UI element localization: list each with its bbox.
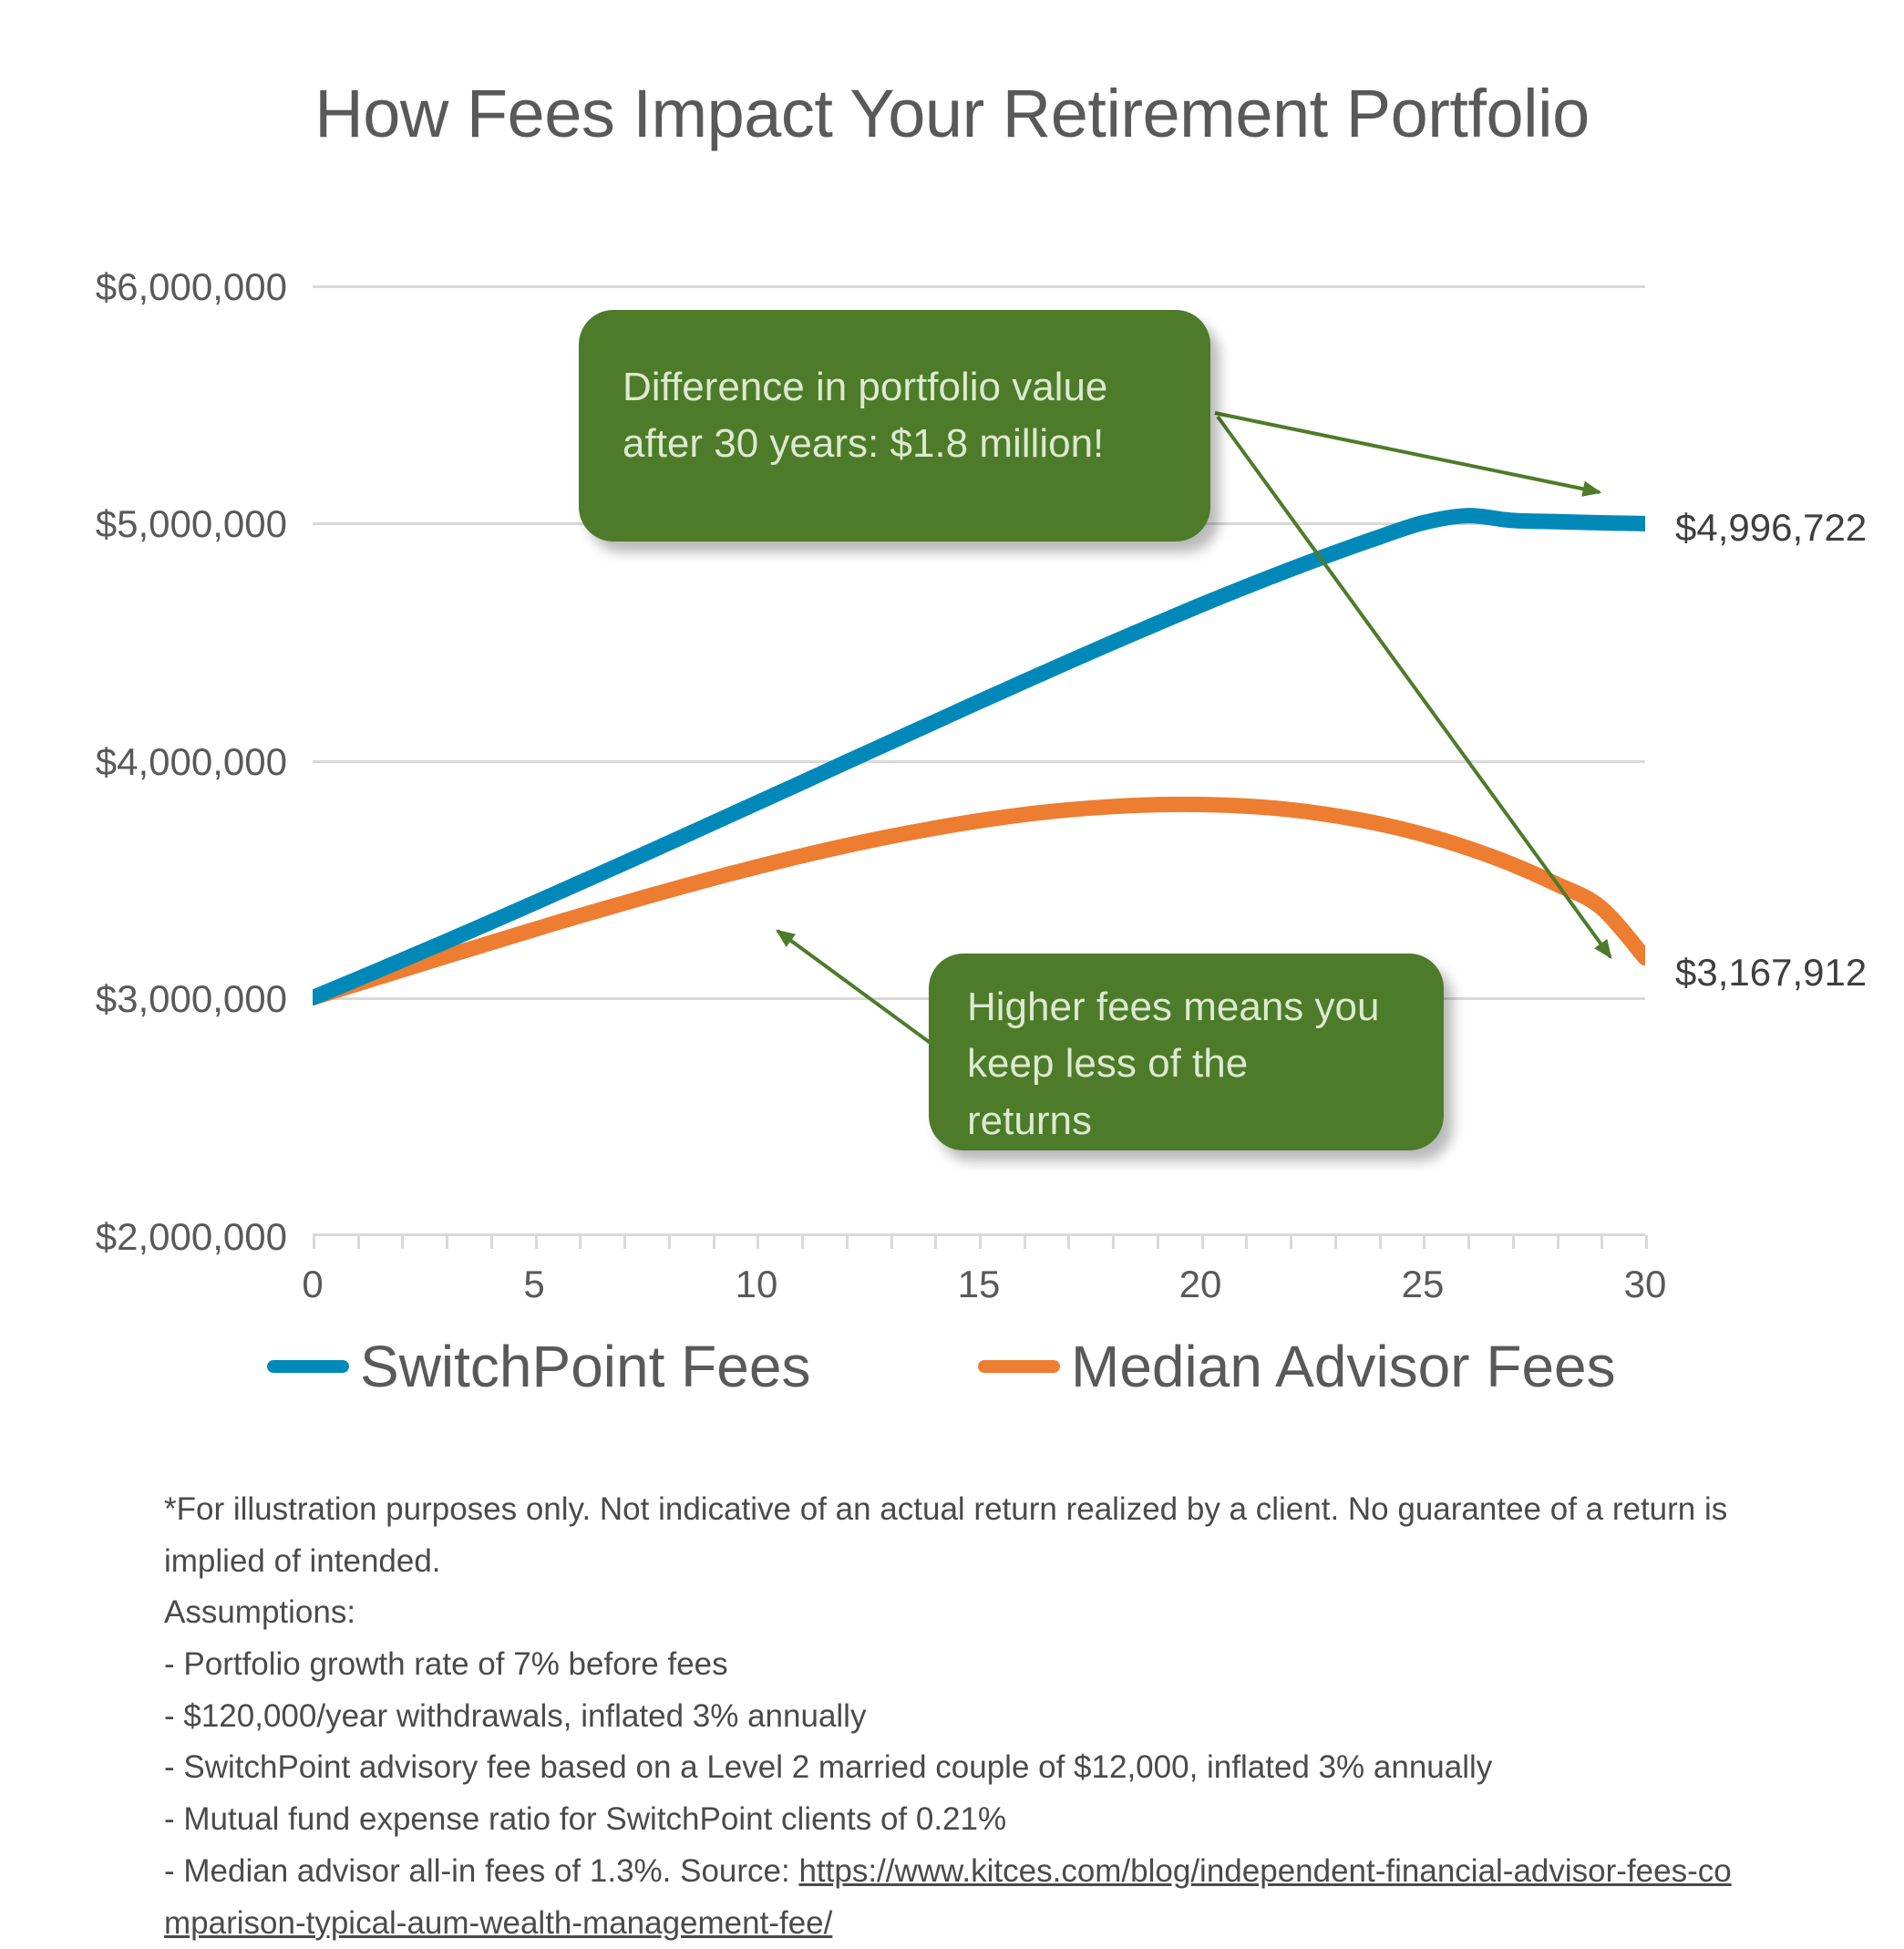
x-axis-tick [713,1235,715,1249]
x-axis-tick [535,1235,538,1249]
x-axis-tick [756,1235,759,1249]
x-axis-label-20: 20 [1146,1263,1255,1306]
x-axis-tick [979,1235,982,1249]
x-axis-tick [1467,1235,1470,1249]
x-axis-tick [623,1235,626,1249]
x-axis-label-15: 15 [924,1263,1034,1306]
footnote-disclaimer: *For illustration purposes only. Not ind… [164,1484,1750,1587]
y-axis-label-5m: $5,000,000 [68,502,287,546]
endpoint-label-median: $3,167,912 [1675,951,1867,995]
x-axis-tick [846,1235,849,1249]
x-axis-label-0: 0 [258,1263,367,1306]
x-axis-tick [934,1235,937,1249]
y-axis-label-3m: $3,000,000 [68,977,287,1021]
endpoint-label-switchpoint: $4,996,722 [1675,506,1867,550]
footnote-assumption-4: - Mutual fund expense ratio for SwitchPo… [164,1794,1750,1846]
y-axis-label-4m: $4,000,000 [68,740,287,784]
x-axis-tick [890,1235,893,1249]
x-axis-ticks [313,1235,1645,1250]
callout-difference-line1: Difference in portfolio value [623,359,1210,416]
footnote-assumption-1: - Portfolio growth rate of 7% before fee… [164,1639,1750,1691]
x-axis-tick [401,1235,404,1249]
x-axis-tick [1245,1235,1248,1249]
chart-page: How Fees Impact Your Retirement Portfoli… [0,0,1904,1914]
x-axis-tick [357,1235,360,1249]
x-axis-tick [1512,1235,1515,1249]
x-axis-tick [801,1235,804,1249]
x-axis-tick [579,1235,581,1249]
footnote-assumptions-heading: Assumptions: [164,1587,1750,1639]
x-axis-tick [313,1235,315,1249]
footnotes: *For illustration purposes only. Not ind… [164,1484,1750,1949]
footnote-assumption-2: - $120,000/year withdrawals, inflated 3%… [164,1691,1750,1743]
x-axis-label-30: 30 [1590,1263,1700,1306]
x-axis-tick [1067,1235,1070,1249]
callout-difference-line2: after 30 years: $1.8 million! [623,416,1210,472]
callout-higher-fees: Higher fees means you keep less of the r… [929,954,1444,1150]
x-axis-label-25: 25 [1368,1263,1477,1306]
x-axis-tick [446,1235,448,1249]
x-axis-tick [1157,1235,1159,1249]
x-axis-tick [1201,1235,1204,1249]
x-axis: 0 5 10 15 20 25 30 [313,1263,1645,1317]
y-axis-label-6m: $6,000,000 [68,265,287,309]
chart-legend: SwitchPoint Fees Median Advisor Fees [313,1333,1645,1433]
footnote-source: - Median advisor all-in fees of 1.3%. So… [164,1846,1750,1949]
x-axis-tick [1024,1235,1026,1249]
y-axis-label-2m: $2,000,000 [68,1215,287,1259]
x-axis-tick [1423,1235,1425,1249]
x-axis-tick [1645,1235,1648,1249]
footnote-source-prefix: - Median advisor all-in fees of 1.3%. So… [164,1853,798,1889]
callout-higher-fees-line3: returns [967,1093,1444,1150]
x-axis-label-10: 10 [702,1263,811,1306]
legend-item-switchpoint-fees[interactable]: SwitchPoint Fees [267,1333,810,1400]
x-axis-tick [1557,1235,1559,1249]
x-axis-tick [1290,1235,1292,1249]
line-switchpoint-fees [313,516,1645,998]
legend-swatch-switchpoint [267,1360,349,1373]
legend-item-median-advisor-fees[interactable]: Median Advisor Fees [978,1333,1616,1400]
legend-swatch-median [978,1360,1060,1373]
x-axis-tick [1334,1235,1337,1249]
x-axis-tick [1600,1235,1603,1249]
legend-label-median: Median Advisor Fees [1071,1333,1616,1400]
callout-higher-fees-line2: keep less of the [967,1036,1444,1092]
x-axis-tick [490,1235,493,1249]
legend-label-switchpoint: SwitchPoint Fees [360,1333,810,1400]
callout-higher-fees-line1: Higher fees means you [967,979,1444,1036]
x-axis-label-5: 5 [479,1263,589,1306]
callout-difference: Difference in portfolio value after 30 y… [579,310,1210,541]
x-axis-tick [668,1235,671,1249]
x-axis-tick [1112,1235,1115,1249]
x-axis-tick [1379,1235,1382,1249]
footnote-assumption-3: - SwitchPoint advisory fee based on a Le… [164,1742,1750,1794]
